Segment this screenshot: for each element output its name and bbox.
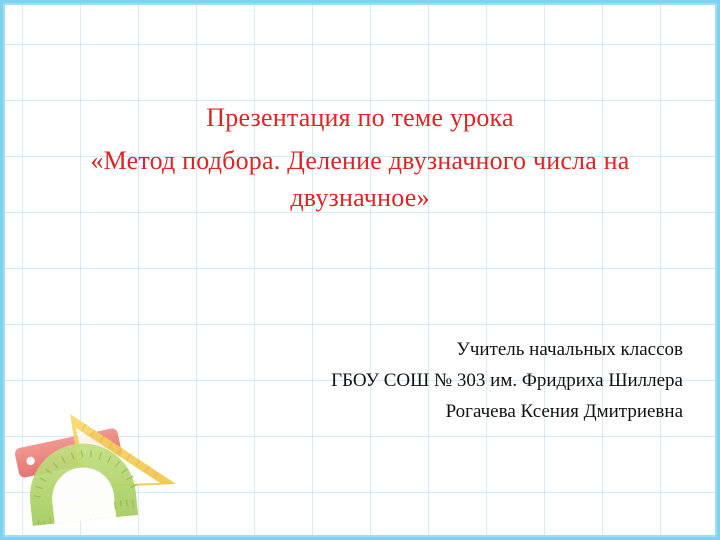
slide-title-line-1: Презентация по теме урока (50, 100, 670, 137)
presentation-slide: Презентация по теме урока «Метод подбора… (0, 0, 720, 540)
slide-title-line-2: «Метод подбора. Деление двузначного числ… (50, 143, 670, 217)
author-role: Учитель начальных классов (123, 335, 683, 366)
slide-title: Презентация по теме урока «Метод подбора… (50, 100, 670, 217)
school-stationery-illustration (8, 392, 218, 532)
